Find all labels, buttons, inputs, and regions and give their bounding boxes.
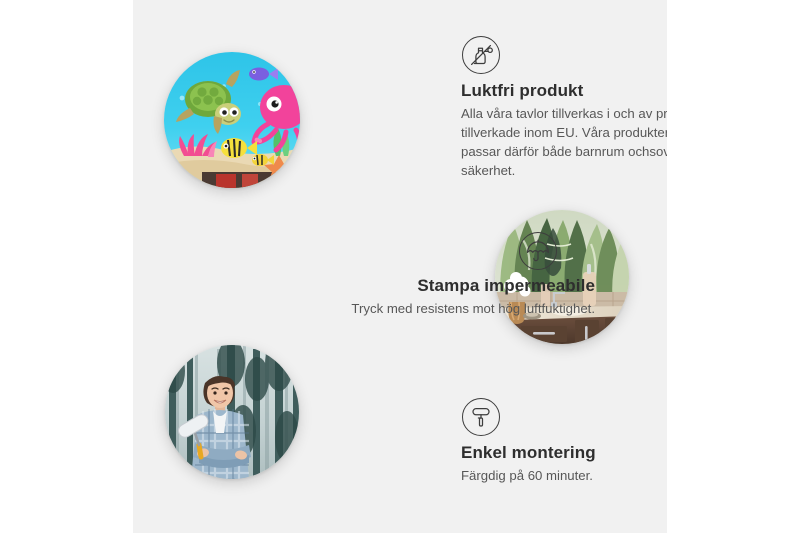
umbrella-icon: [519, 232, 557, 270]
feature-title: Stampa impermeabile: [313, 276, 595, 296]
feature-body: Alla våra tavlor tillverkas i och av pro…: [461, 105, 667, 180]
feature-body: Tryck med resistens mot hög luftfuktighe…: [313, 300, 595, 319]
feature-easy-assembly: Enkel montering Färgdig på 60 minuter.: [461, 398, 667, 486]
feature-title: Luktfri produkt: [461, 81, 667, 101]
promo-banner: Luktfri produkt Alla våra tavlor tillver…: [0, 0, 800, 533]
feature-waterproof: Stampa impermeabile Tryck med resistens …: [313, 232, 595, 319]
feature-odourless: Luktfri produkt Alla våra tavlor tillver…: [461, 36, 667, 180]
feature-title: Enkel montering: [461, 443, 667, 463]
photo-woman-with-paint-roller: [165, 345, 299, 479]
no-fragrance-spray-icon: [462, 36, 500, 74]
feature-body: Färgdig på 60 minuter.: [461, 467, 667, 486]
forest-mural-illustration: [165, 345, 299, 479]
paint-roller-icon: [462, 398, 500, 436]
photo-underwater-cartoon-scene: [164, 52, 300, 188]
underwater-illustration: [164, 52, 300, 188]
content-panel: Luktfri produkt Alla våra tavlor tillver…: [133, 0, 667, 533]
